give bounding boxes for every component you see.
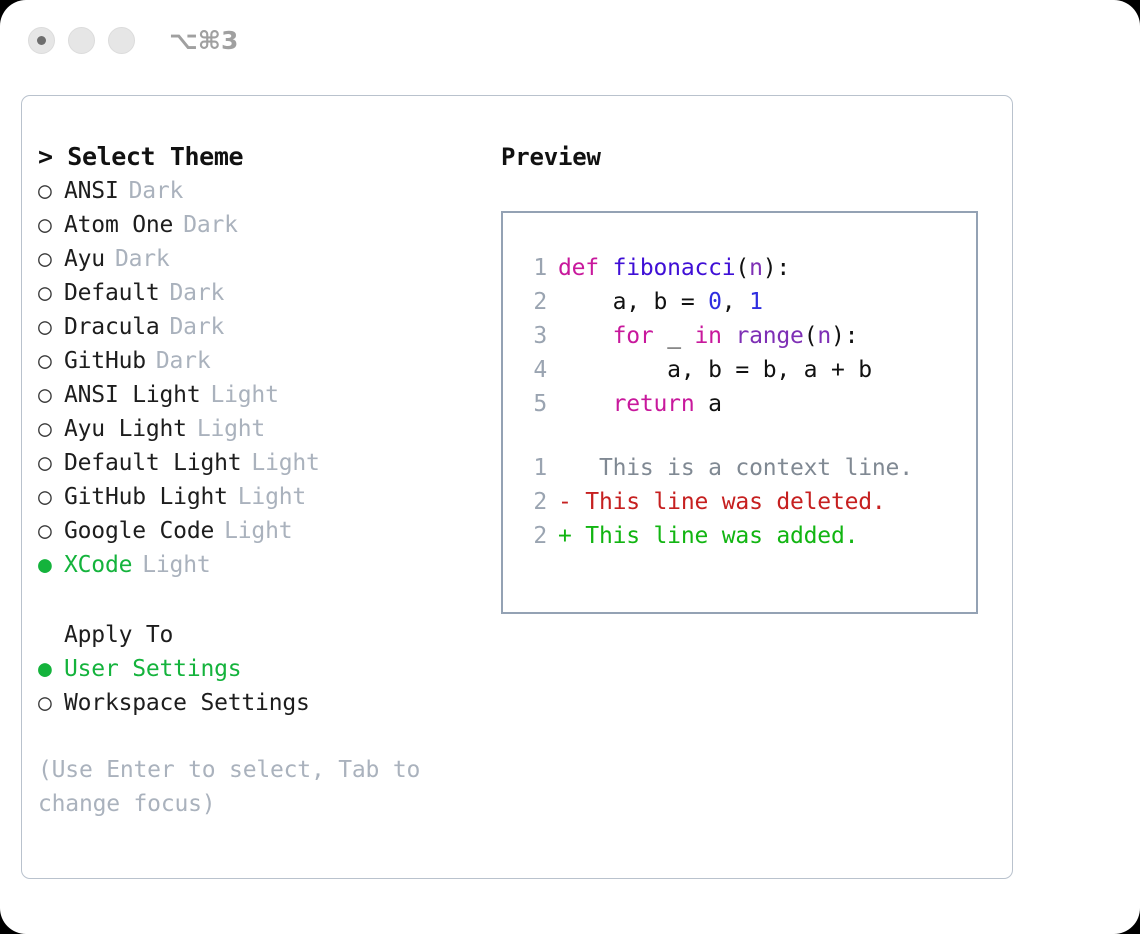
theme-category-label: Light [224,518,292,544]
apply-to-label: Workspace Settings [64,690,310,716]
diff-text: This line was deleted. [572,489,886,515]
theme-name-label: Default [64,280,160,306]
radio-unselected-icon[interactable]: ○ [38,174,64,208]
keyboard-hint: (Use Enter to select, Tab to change focu… [38,753,448,821]
titlebar: ⌥⌘3 [0,0,1140,80]
code-token-txt: ( [735,255,749,281]
code-token-txt [722,323,736,349]
theme-name-label: ANSI [64,178,119,204]
theme-option-row[interactable]: ○GitHubDark [38,344,478,378]
theme-name-label: Atom One [64,212,173,238]
preview-header: Preview [501,140,991,174]
theme-list[interactable]: ○ANSIDark○Atom OneDark○AyuDark○DefaultDa… [38,174,478,582]
theme-name-label: Ayu [64,246,105,272]
window-controls [28,27,135,54]
radio-unselected-icon[interactable]: ○ [38,446,64,480]
code-token-var: n [817,323,831,349]
code-token-txt: ): [763,255,790,281]
code-line: 5 return a [519,391,976,425]
theme-category-label: Dark [183,212,238,238]
radio-unselected-icon[interactable]: ○ [38,276,64,310]
code-line-number: 5 [519,391,547,417]
theme-option-row[interactable]: ○Google CodeLight [38,514,478,548]
theme-name-label: Google Code [64,518,214,544]
theme-option-row[interactable]: ○Default LightLight [38,446,478,480]
code-line-number: 3 [519,323,547,349]
radio-unselected-icon[interactable]: ○ [38,208,64,242]
radio-unselected-icon[interactable]: ○ [38,242,64,276]
theme-option-row[interactable]: ○DraculaDark [38,310,478,344]
apply-to-label: User Settings [64,656,241,682]
code-token-kw: for [613,323,654,349]
diff-line: 2+ This line was added. [519,523,976,557]
diff-sign [558,455,572,481]
diff-line-number: 1 [519,455,547,481]
code-line-number: 1 [519,255,547,281]
diff-line: 2- This line was deleted. [519,489,976,523]
diff-line-number: 2 [519,523,547,549]
radio-selected-icon[interactable]: ● [38,548,64,582]
code-token-num: 1 [749,289,763,315]
code-token-txt: a, b = [558,289,708,315]
theme-category-label: Light [238,484,306,510]
diff-text: This is a context line. [572,455,913,481]
radio-unselected-icon[interactable]: ○ [38,514,64,548]
theme-category-label: Dark [170,280,225,306]
theme-category-label: Light [142,552,210,578]
apply-to-option-row[interactable]: ○Workspace Settings [38,686,478,720]
theme-name-label: Ayu Light [64,416,187,442]
theme-picker-window: > Select Theme ○ANSIDark○Atom OneDark○Ay… [21,95,1013,879]
theme-option-row[interactable]: ●XCodeLight [38,548,478,582]
diff-line: 1 This is a context line. [519,455,976,489]
radio-unselected-icon[interactable]: ○ [38,480,64,514]
code-token-txt: a [694,391,721,417]
app-window: ⌥⌘3 > Select Theme ○ANSIDark○Atom OneDar… [0,0,1140,934]
code-line-number: 2 [519,289,547,315]
theme-category-label: Light [197,416,265,442]
theme-name-label: Default Light [64,450,241,476]
window-dot-2-icon[interactable] [68,27,95,54]
theme-category-label: Dark [156,348,211,374]
theme-name-label: XCode [64,552,132,578]
code-sample: 1def fibonacci(n):2 a, b = 0, 13 for _ i… [519,255,976,425]
diff-sign: - [558,489,572,515]
radio-unselected-icon[interactable]: ○ [38,686,64,720]
theme-list-column: > Select Theme ○ANSIDark○Atom OneDark○Ay… [38,140,478,821]
theme-option-row[interactable]: ○DefaultDark [38,276,478,310]
code-token-txt: ( [804,323,818,349]
code-line: 2 a, b = 0, 1 [519,289,976,323]
code-token-kw: in [695,323,722,349]
code-token-kw: return [613,391,695,417]
radio-selected-icon[interactable]: ● [38,652,64,686]
theme-name-label: GitHub Light [64,484,228,510]
apply-to-header: Apply To [38,618,478,652]
apply-to-option-row[interactable]: ●User Settings [38,652,478,686]
window-dot-3-icon[interactable] [108,27,135,54]
apply-to-list[interactable]: ●User Settings○Workspace Settings [38,652,478,720]
code-token-txt [558,323,613,349]
code-line-number: 4 [519,357,547,383]
radio-unselected-icon[interactable]: ○ [38,378,64,412]
code-token-txt: _ [654,323,695,349]
window-dot-inner [37,36,46,45]
theme-option-row[interactable]: ○GitHub LightLight [38,480,478,514]
preview-box: 1def fibonacci(n):2 a, b = 0, 13 for _ i… [501,211,978,614]
diff-sample: 1 This is a context line.2- This line wa… [519,455,976,557]
window-dot-active-icon[interactable] [28,27,55,54]
code-token-var: n [749,255,763,281]
preview-column: Preview 1def fibonacci(n):2 a, b = 0, 13… [501,140,991,614]
code-token-txt: , [722,289,749,315]
code-token-txt: ): [831,323,858,349]
theme-option-row[interactable]: ○Atom OneDark [38,208,478,242]
code-line: 3 for _ in range(n): [519,323,976,357]
keyboard-shortcut-label: ⌥⌘3 [169,26,238,55]
theme-category-label: Dark [115,246,170,272]
preview-divider-space [519,425,976,455]
theme-category-label: Dark [129,178,184,204]
theme-name-label: Dracula [64,314,160,340]
diff-text: This line was added. [572,523,859,549]
code-token-fn: fibonacci [613,255,736,281]
theme-option-row[interactable]: ○ANSI LightLight [38,378,478,412]
radio-unselected-icon[interactable]: ○ [38,344,64,378]
theme-category-label: Light [251,450,319,476]
theme-category-label: Light [210,382,278,408]
code-token-num: 0 [708,289,722,315]
diff-line-number: 2 [519,489,547,515]
radio-unselected-icon[interactable]: ○ [38,310,64,344]
radio-unselected-icon[interactable]: ○ [38,412,64,446]
code-token-txt: a, b = b, a + b [558,357,872,383]
select-theme-header: > Select Theme [38,140,478,174]
theme-option-row[interactable]: ○AyuDark [38,242,478,276]
code-line: 4 a, b = b, a + b [519,357,976,391]
theme-name-label: GitHub [64,348,146,374]
code-token-txt [558,391,613,417]
theme-name-label: ANSI Light [64,382,200,408]
theme-option-row[interactable]: ○ANSIDark [38,174,478,208]
code-token-kw: def [558,255,613,281]
theme-category-label: Dark [170,314,225,340]
code-line: 1def fibonacci(n): [519,255,976,289]
theme-option-row[interactable]: ○Ayu LightLight [38,412,478,446]
code-token-call: range [735,323,803,349]
diff-sign: + [558,523,572,549]
